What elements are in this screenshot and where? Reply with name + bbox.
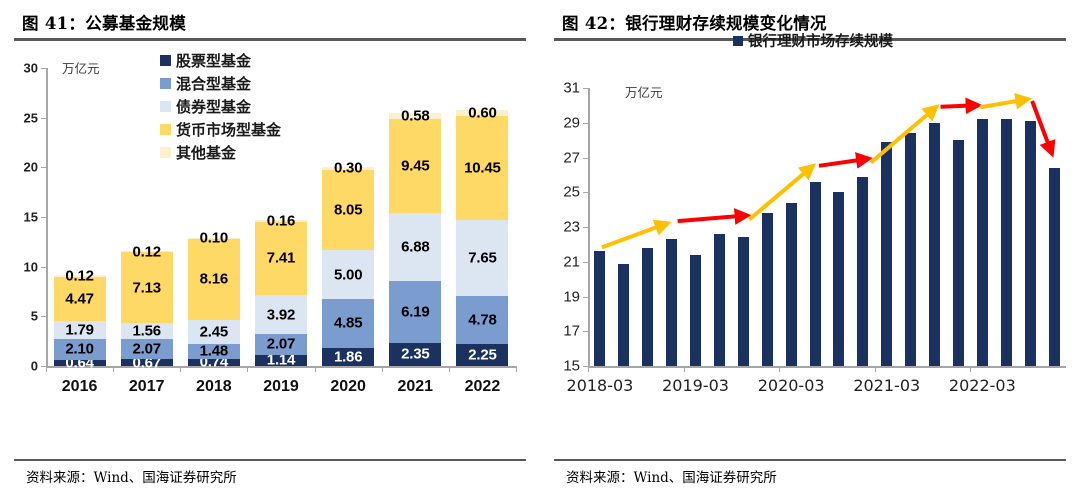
left-x-tick [46, 366, 47, 372]
trend-arrow [941, 105, 979, 106]
figure-42-legend: 银行理财市场存续规模 [733, 30, 893, 51]
left-y-tick [41, 316, 46, 317]
right-y-tick-label: 27 [546, 149, 580, 166]
legend-swatch-icon [733, 36, 743, 46]
right-y-tick-label: 31 [546, 80, 580, 97]
left-stacked-bar: 2.356.196.889.450.58 [389, 68, 441, 366]
right-y-tick-label: 23 [546, 219, 580, 236]
right-y-tick-label: 15 [546, 358, 580, 375]
bar-segment-value: 7.13 [133, 279, 161, 296]
bar-segment-value: 0.60 [468, 105, 496, 122]
figure-41-source: 资料来源：Wind、国海证券研究所 [26, 466, 237, 486]
bar-segment-value: 1.56 [133, 323, 161, 340]
figure-42-panel: 图 42：银行理财存续规模变化情况 万亿元 银行理财市场存续规模 1517192… [540, 0, 1080, 500]
left-x-category-label: 2017 [129, 378, 165, 396]
bar-segment-value: 1.79 [65, 321, 93, 338]
left-x-tick [382, 366, 383, 372]
figure-42-plot: 1517192123252729312018-032019-032020-032… [588, 88, 1066, 400]
right-y-tick-label: 29 [546, 114, 580, 131]
legend-swatch-icon [160, 55, 171, 66]
left-y-tick [41, 68, 46, 69]
left-y-tick [41, 217, 46, 218]
left-x-category-label: 2022 [465, 378, 501, 396]
trend-arrow [871, 107, 937, 163]
left-x-category-label: 2020 [330, 378, 366, 396]
figure-42-footer-rule [554, 459, 1066, 461]
left-y-tick-label: 5 [2, 309, 38, 324]
trend-arrow [749, 166, 813, 220]
left-x-category-label: 2016 [62, 378, 98, 396]
left-stacked-bar: 0.741.482.458.160.10 [188, 68, 240, 366]
left-y-tick [41, 167, 46, 168]
left-x-tick [247, 366, 248, 372]
left-x-tick [315, 366, 316, 372]
left-x-tick [113, 366, 114, 372]
figure-page: 图 41：公募基金规模 万亿元 股票型基金混合型基金债券型基金货币市场型基金其他… [0, 0, 1080, 500]
trend-arrow [980, 99, 1028, 107]
left-stacked-bar: 1.142.073.927.410.16 [255, 68, 307, 366]
bar-segment-value: 0.12 [65, 268, 93, 285]
left-x-tick [449, 366, 450, 372]
bar-segment-value: 8.16 [200, 271, 228, 288]
left-y-tick [41, 118, 46, 119]
bar-segment-value: 2.10 [65, 341, 93, 358]
figure-42-source: 资料来源：Wind、国海证券研究所 [566, 466, 777, 486]
bar-segment-value: 6.88 [401, 239, 429, 256]
bar-segment-value: 10.45 [464, 160, 501, 177]
bar-segment-value: 0.58 [401, 108, 429, 125]
right-y-tick-label: 17 [546, 323, 580, 340]
bar-segment-value: 4.85 [334, 315, 362, 332]
left-y-tick-label: 10 [2, 259, 38, 274]
bar-segment-value: 8.05 [334, 201, 362, 218]
left-y-tick-label: 30 [2, 61, 38, 76]
left-y-tick [41, 267, 46, 268]
bar-segment-value: 4.78 [468, 311, 496, 328]
bar-segment-value: 7.41 [267, 250, 295, 267]
left-x-category-label: 2019 [263, 378, 299, 396]
figure-41-footer-rule [14, 459, 526, 461]
left-stacked-bar: 1.864.855.008.050.30 [322, 68, 374, 366]
left-x-tick [180, 366, 181, 372]
left-x-tick [516, 366, 517, 372]
bar-segment-value: 2.07 [267, 336, 295, 353]
left-stacked-bar: 0.642.101.794.470.12 [54, 68, 106, 366]
left-y-tick-label: 15 [2, 210, 38, 225]
left-y-axis [46, 68, 48, 366]
bar-segment-value: 3.92 [267, 306, 295, 323]
left-y-tick-label: 20 [2, 160, 38, 175]
trend-arrow [678, 215, 748, 221]
right-y-tick-label: 21 [546, 253, 580, 270]
figure-41-plot: 0510152025300.642.101.794.470.1220160.67… [46, 68, 516, 408]
bar-segment-value: 5.00 [334, 266, 362, 283]
left-x-category-label: 2021 [397, 378, 433, 396]
bar-segment-value: 0.16 [267, 212, 295, 229]
bar-segment-value: 9.45 [401, 157, 429, 174]
figure-41-panel: 图 41：公募基金规模 万亿元 股票型基金混合型基金债券型基金货币市场型基金其他… [0, 0, 540, 500]
left-y-tick-label: 0 [2, 359, 38, 374]
bar-segment-value: 6.19 [401, 303, 429, 320]
bar-segment-value: 2.45 [200, 323, 228, 340]
left-stacked-bar: 2.254.787.6510.450.60 [456, 68, 508, 366]
right-y-tick-label: 25 [546, 184, 580, 201]
bar-segment-value: 2.07 [133, 341, 161, 358]
bar-segment-value: 1.48 [200, 343, 228, 360]
bar-segment-value: 0.30 [334, 160, 362, 177]
bar-segment-value: 2.25 [468, 346, 496, 363]
figure-41-title-rule [14, 38, 526, 41]
figure-41-title: 图 41：公募基金规模 [22, 10, 186, 34]
trend-arrow [819, 159, 869, 166]
right-y-tick-label: 19 [546, 288, 580, 305]
bar-segment-value: 7.65 [468, 250, 496, 267]
trend-arrow [602, 223, 668, 247]
trend-annotation-layer [588, 88, 1066, 400]
bar-segment-value: 2.35 [401, 346, 429, 363]
left-stacked-bar: 0.672.071.567.130.12 [121, 68, 173, 366]
bar-segment-value: 4.47 [65, 290, 93, 307]
bar-segment-value: 1.86 [334, 348, 362, 365]
left-y-tick-label: 25 [2, 110, 38, 125]
legend-label-balance: 银行理财市场存续规模 [748, 30, 893, 51]
bar-segment-value: 0.12 [133, 243, 161, 260]
bar-segment-value: 0.10 [200, 230, 228, 247]
left-x-category-label: 2018 [196, 378, 232, 396]
trend-arrow [1032, 101, 1052, 154]
